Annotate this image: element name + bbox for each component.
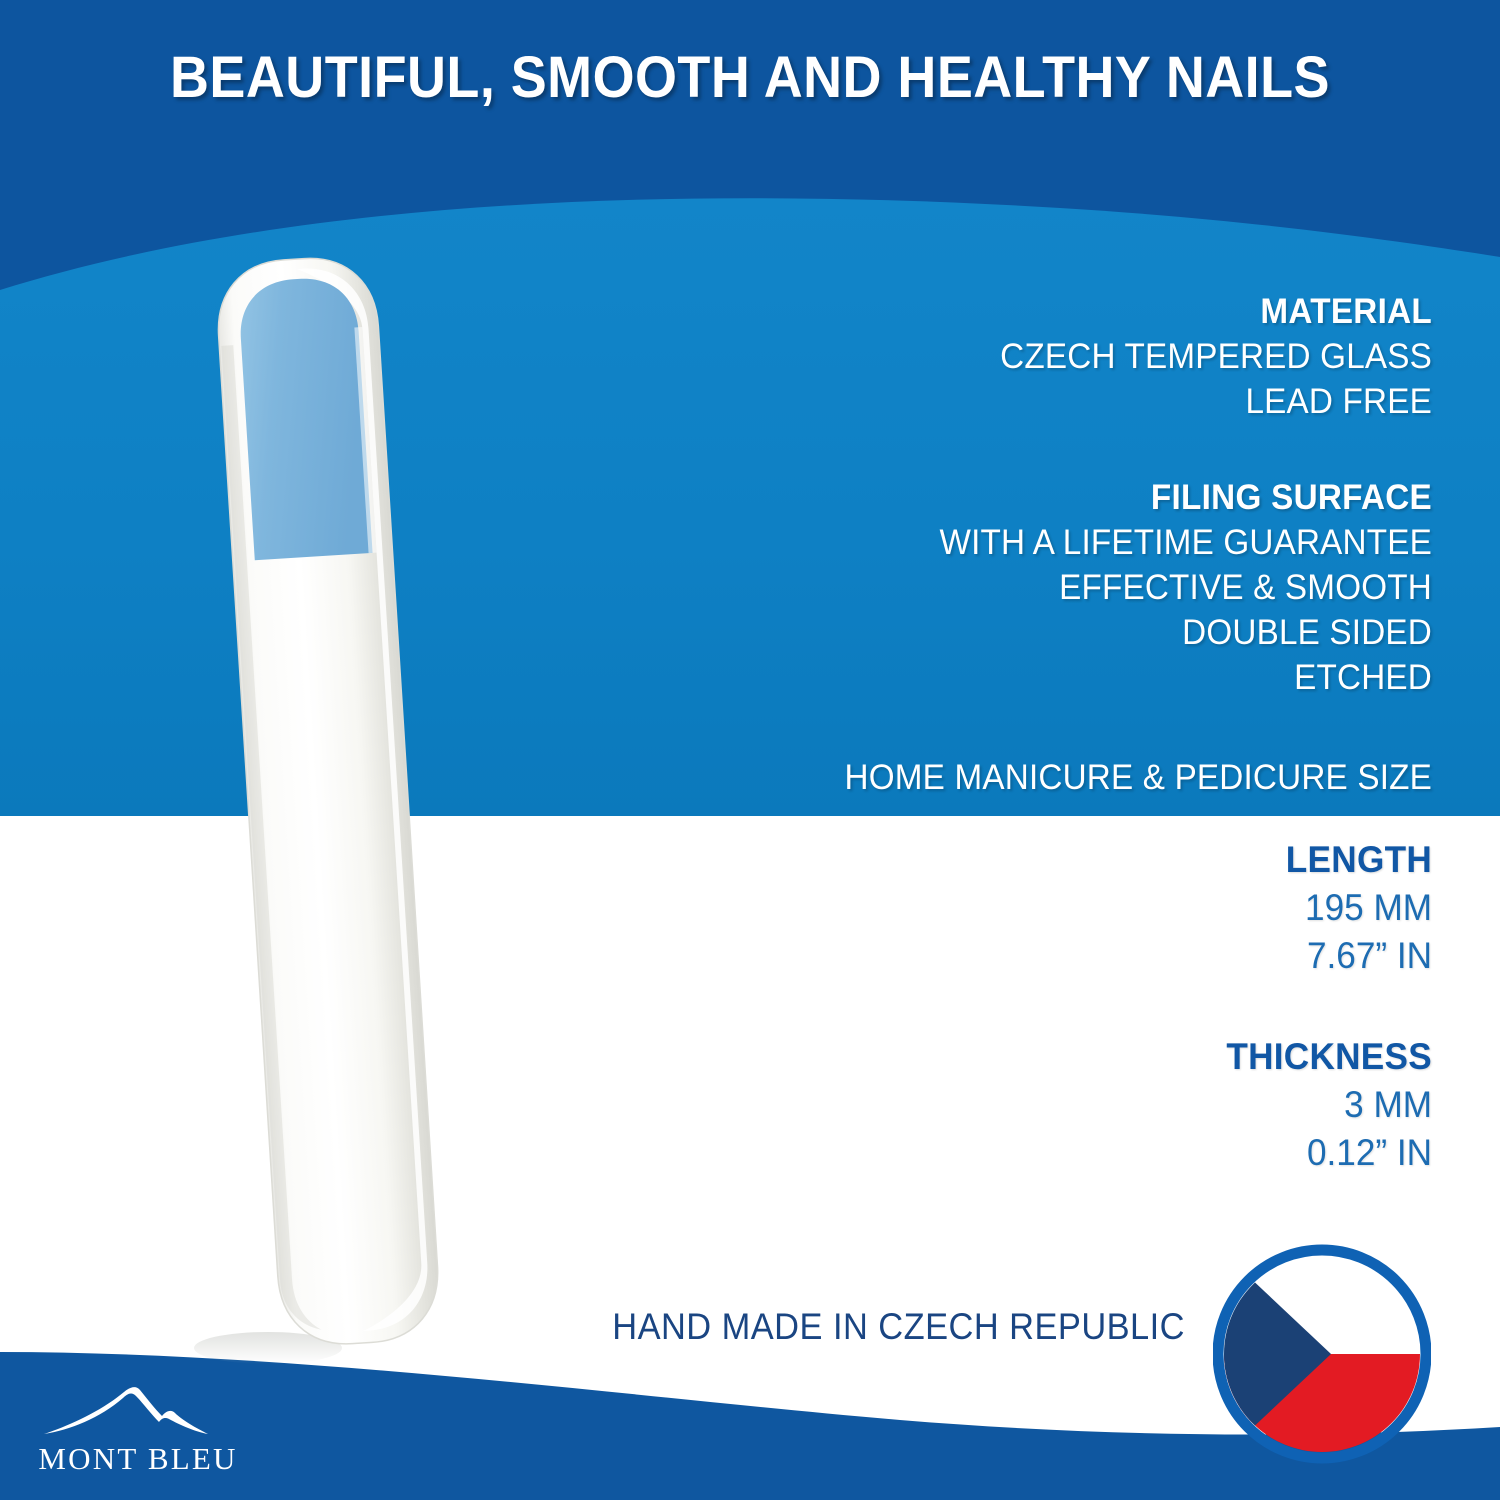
measurement-length-in: 7.67” IN [767,932,1432,980]
handmade-label: HAND MADE IN CZECH REPUBLIC [83,1306,1185,1348]
spec-gap [732,424,1432,476]
spec-line-material-1: LEAD FREE [767,380,1432,425]
measurement-length-mm: 195 MM [767,884,1432,932]
spec-line-filing-3: ETCHED [767,656,1432,701]
size-banner: HOME MANICURE & PEDICURE SIZE [577,758,1432,798]
file-body-group [214,254,442,1348]
spec-block-material: MATERIAL CZECH TEMPERED GLASS LEAD FREE [732,290,1432,424]
measurement-thickness-in: 0.12” IN [767,1129,1432,1177]
spec-heading-material: MATERIAL [767,290,1432,335]
spec-block-filing-surface: FILING SURFACE WITH A LIFETIME GUARANTEE… [732,476,1432,700]
measurement-heading-thickness: THICKNESS [767,1033,1432,1081]
measurement-heading-length: LENGTH [767,836,1432,884]
spec-line-filing-2: DOUBLE SIDED [767,611,1432,656]
measurement-length: LENGTH 195 MM 7.67” IN [732,836,1432,980]
spec-heading-filing-surface: FILING SURFACE [767,476,1432,521]
brand-name: MONT BLEU [38,1441,238,1477]
spec-column: MATERIAL CZECH TEMPERED GLASS LEAD FREE … [732,290,1432,700]
page-title: BEAUTIFUL, SMOOTH AND HEALTHY NAILS [53,44,1448,111]
spec-line-filing-1: EFFECTIVE & SMOOTH [767,566,1432,611]
measurement-thickness-mm: 3 MM [767,1081,1432,1129]
mountain-icon [38,1378,248,1440]
measurement-thickness: THICKNESS 3 MM 0.12” IN [732,1033,1432,1177]
file-filing-panel [237,275,372,560]
brand-logo: MONT BLEU [38,1378,278,1477]
czech-flag-badge [1213,1243,1431,1465]
spec-line-material-0: CZECH TEMPERED GLASS [767,335,1432,380]
spec-line-filing-0: WITH A LIFETIME GUARANTEE [767,521,1432,566]
